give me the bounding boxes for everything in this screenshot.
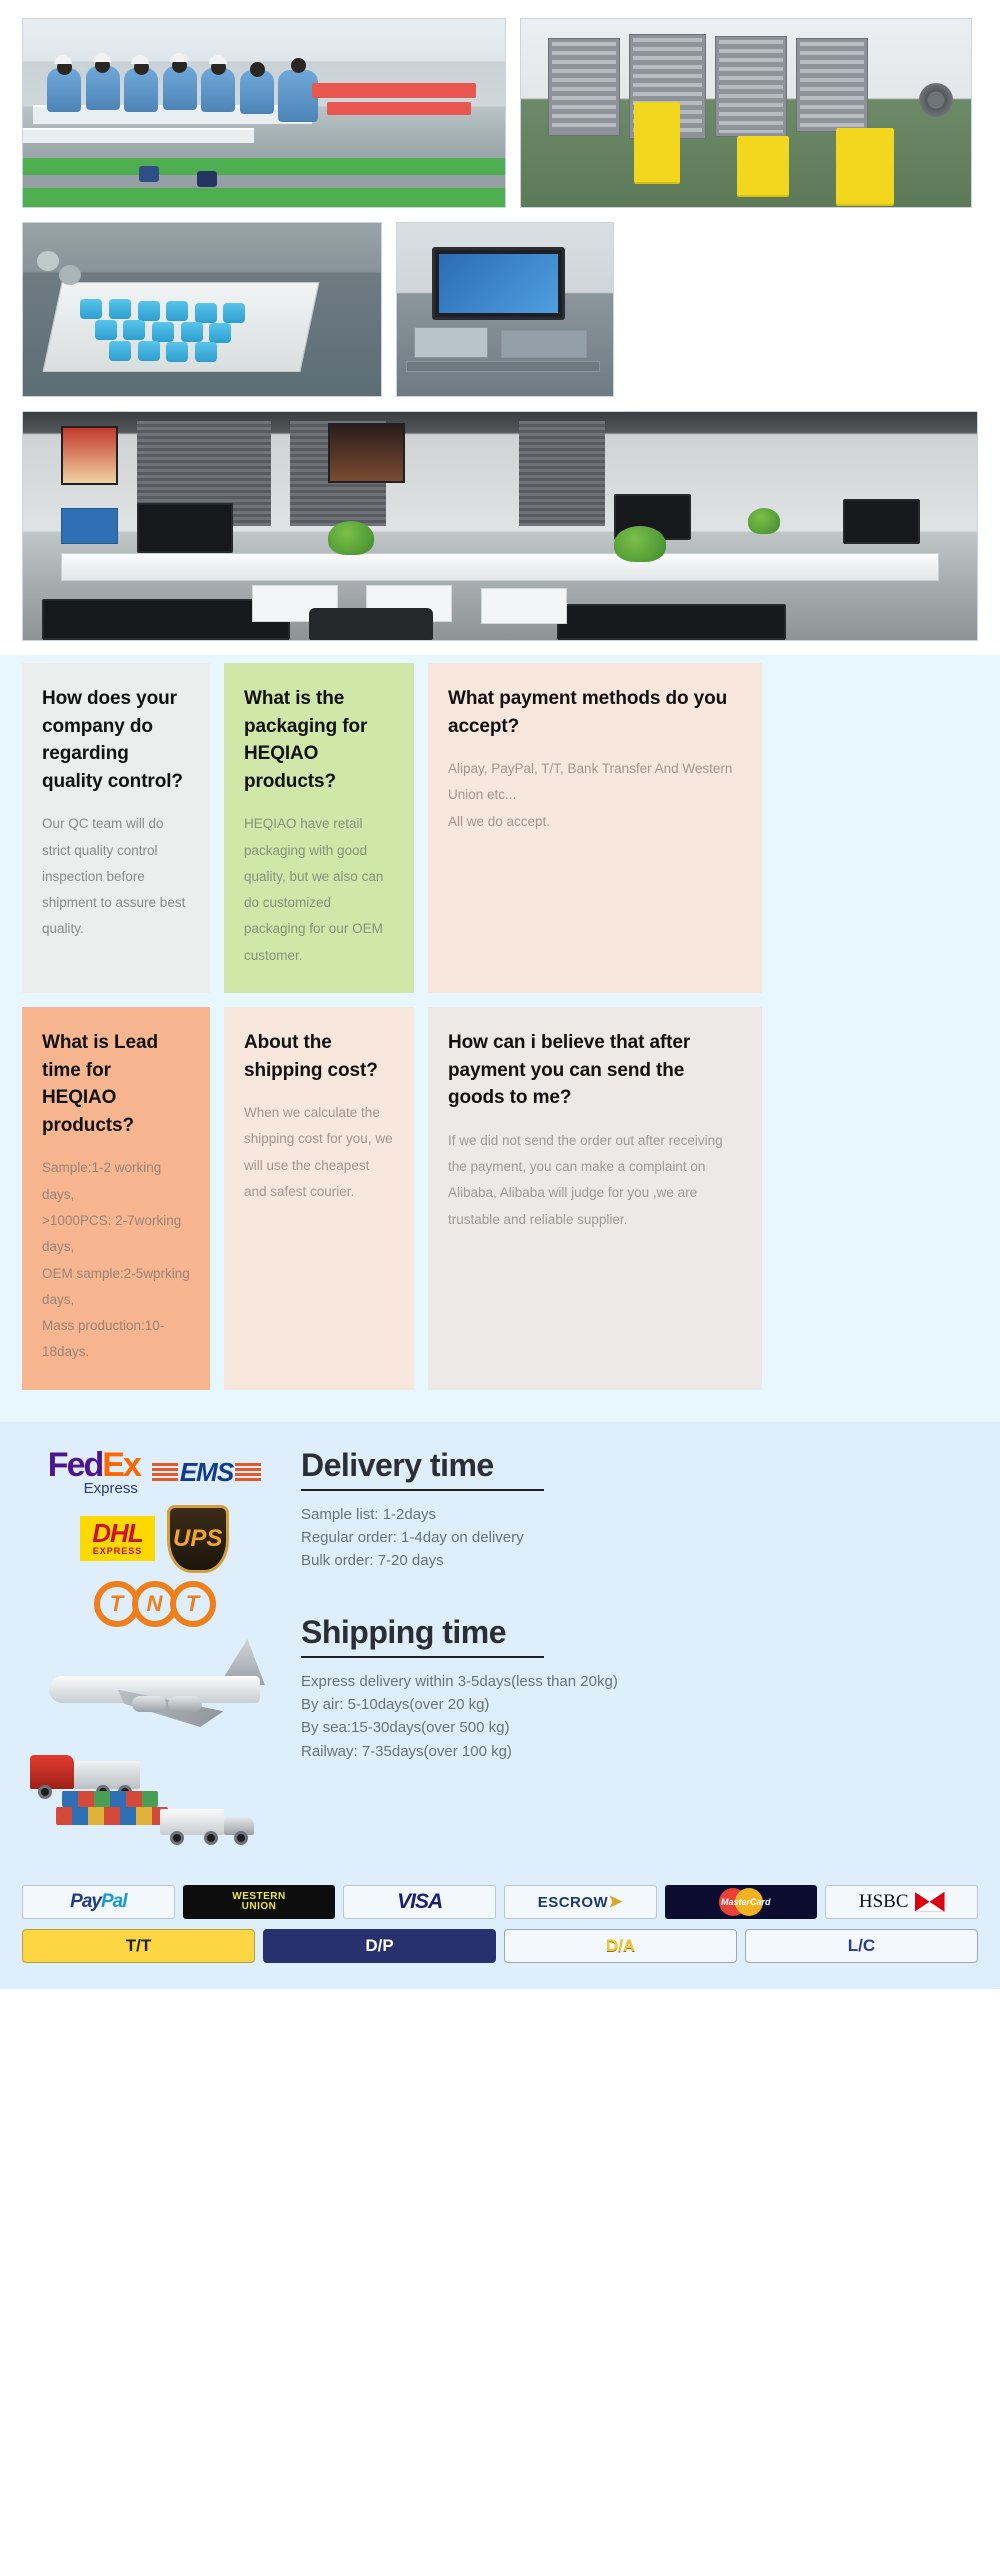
- dhl-logo: DHL EXPRESS: [80, 1516, 154, 1561]
- visa-logo: VISA: [343, 1885, 496, 1919]
- term-dp-button[interactable]: D/P: [263, 1929, 496, 1963]
- mastercard-label: MasterCard: [721, 1897, 771, 1907]
- paypal-label-a: Pay: [70, 1891, 101, 1912]
- faq-section: How does your company do regarding quali…: [0, 655, 1000, 1422]
- ups-logo: UPS: [167, 1505, 229, 1573]
- photo-gallery: Workers in blue uniforms at an electroni…: [0, 0, 1000, 641]
- airplane-illustration: [40, 1637, 270, 1747]
- shipping-section: FedEx Express EMS DHL EXPRESS UPS: [0, 1422, 1000, 1881]
- paypal-label-b: Pal: [101, 1891, 127, 1912]
- tnt-letter-3: T: [170, 1581, 216, 1627]
- payment-terms-row: T/T D/P D/A L/C: [22, 1929, 978, 1963]
- ups-label: UPS: [173, 1525, 222, 1553]
- ems-logo: EMS: [152, 1457, 261, 1488]
- faq-question: About the shipping cost?: [244, 1029, 394, 1084]
- faq-card-quality-control: How does your company do regarding quali…: [22, 663, 210, 993]
- carrier-row-3: T N T: [22, 1581, 287, 1627]
- paypal-logo: PayPal: [22, 1885, 175, 1919]
- dhl-sublabel: EXPRESS: [92, 1546, 142, 1556]
- gallery-row-2: [22, 222, 978, 397]
- dhl-label: DHL: [92, 1521, 142, 1546]
- faq-card-lead-time: What is Lead time for HEQIAO products? S…: [22, 1007, 210, 1390]
- faq-card-shipping-cost: About the shipping cost? When we calcula…: [224, 1007, 414, 1390]
- escrow-logo: ESCROW➤: [504, 1885, 657, 1919]
- delivery-line-1: Sample list: 1-2days: [301, 1503, 978, 1526]
- faq-answer: Alipay, PayPal, T/T, Bank Transfer And W…: [448, 756, 742, 835]
- faq-row-top: How does your company do regarding quali…: [22, 663, 978, 993]
- ems-bars-icon: [152, 1463, 178, 1481]
- section-spacer: [301, 1573, 978, 1615]
- shipping-title-rule: [301, 1656, 544, 1658]
- term-tt-button[interactable]: T/T: [22, 1929, 255, 1963]
- faq-row-bottom: What is Lead time for HEQIAO products? S…: [22, 1007, 978, 1390]
- term-lc-button[interactable]: L/C: [745, 1929, 978, 1963]
- shipping-line-4: Railway: 7-35days(over 100 kg): [301, 1740, 978, 1763]
- warehouse-storage-racks-photo: [520, 18, 972, 208]
- gallery-row-3: [22, 411, 978, 641]
- fedex-label-b: Ex: [102, 1446, 140, 1484]
- ems-label: EMS: [180, 1457, 233, 1488]
- escrow-label: ESCROW: [538, 1894, 609, 1911]
- term-da-button[interactable]: D/A: [504, 1929, 737, 1963]
- gallery-row-1: Workers in blue uniforms at an electroni…: [22, 18, 978, 208]
- faq-answer: If we did not send the order out after r…: [448, 1128, 742, 1233]
- trucks-and-containers-illustration: [30, 1751, 280, 1861]
- faq-answer: Sample:1-2 working days, >1000PCS: 2-7wo…: [42, 1155, 190, 1366]
- fedex-logo: FedEx Express: [48, 1448, 140, 1497]
- faq-answer: HEQIAO have retail packaging with good q…: [244, 811, 394, 969]
- product-detail-page: Workers in blue uniforms at an electroni…: [0, 0, 1000, 1989]
- tnt-logo: T N T: [94, 1581, 216, 1627]
- delivery-line-2: Regular order: 1-4day on delivery: [301, 1526, 978, 1549]
- shipping-line-1: Express delivery within 3-5days(less tha…: [301, 1670, 978, 1693]
- hsbc-logo: HSBC: [825, 1885, 978, 1919]
- western-union-logo: WESTERN UNION: [183, 1885, 336, 1919]
- ems-bars-icon-right: [235, 1463, 261, 1481]
- faq-question: How can i believe that after payment you…: [448, 1029, 742, 1112]
- faq-question: What payment methods do you accept?: [448, 685, 742, 740]
- delivery-time-title: Delivery time: [301, 1448, 978, 1483]
- carrier-row-1: FedEx Express EMS: [22, 1448, 287, 1497]
- wu-line-2: UNION: [232, 1902, 286, 1912]
- hsbc-hexagon-icon: [915, 1892, 945, 1912]
- delivery-line-3: Bulk order: 7-20 days: [301, 1549, 978, 1572]
- delivery-title-rule: [301, 1489, 544, 1491]
- payment-logo-row: PayPal WESTERN UNION VISA ESCROW➤ Master…: [22, 1885, 978, 1919]
- office-workspace-photo: [22, 411, 978, 641]
- faq-question: How does your company do regarding quali…: [42, 685, 190, 795]
- blue-molded-parts-tray-photo: [22, 222, 382, 397]
- shipping-line-2: By air: 5-10days(over 20 kg): [301, 1693, 978, 1716]
- testing-lab-workstation-photo: [396, 222, 614, 397]
- faq-answer: When we calculate the shipping cost for …: [244, 1100, 394, 1205]
- faq-card-packaging: What is the packaging for HEQIAO product…: [224, 663, 414, 993]
- visa-label: VISA: [397, 1890, 442, 1914]
- faq-question: What is Lead time for HEQIAO products?: [42, 1029, 190, 1139]
- factory-assembly-line-photo: Workers in blue uniforms at an electroni…: [22, 18, 506, 208]
- shipping-line-3: By sea:15-30days(over 500 kg): [301, 1716, 978, 1739]
- mastercard-logo: MasterCard: [665, 1885, 818, 1919]
- faq-card-payment-methods: What payment methods do you accept? Alip…: [428, 663, 762, 993]
- delivery-and-shipping-info: Delivery time Sample list: 1-2days Regul…: [295, 1448, 978, 1861]
- escrow-swoosh-icon: ➤: [608, 1892, 623, 1911]
- shipping-time-title: Shipping time: [301, 1615, 978, 1650]
- payment-section: PayPal WESTERN UNION VISA ESCROW➤ Master…: [0, 1881, 1000, 1989]
- carrier-logos: FedEx Express EMS DHL EXPRESS UPS: [22, 1448, 287, 1861]
- faq-card-trust-after-payment: How can i believe that after payment you…: [428, 1007, 762, 1390]
- carrier-row-2: DHL EXPRESS UPS: [22, 1505, 287, 1573]
- faq-question: What is the packaging for HEQIAO product…: [244, 685, 394, 795]
- faq-answer: Our QC team will do strict quality contr…: [42, 811, 190, 943]
- fedex-label-a: Fed: [48, 1446, 102, 1484]
- hsbc-label: HSBC: [859, 1891, 909, 1913]
